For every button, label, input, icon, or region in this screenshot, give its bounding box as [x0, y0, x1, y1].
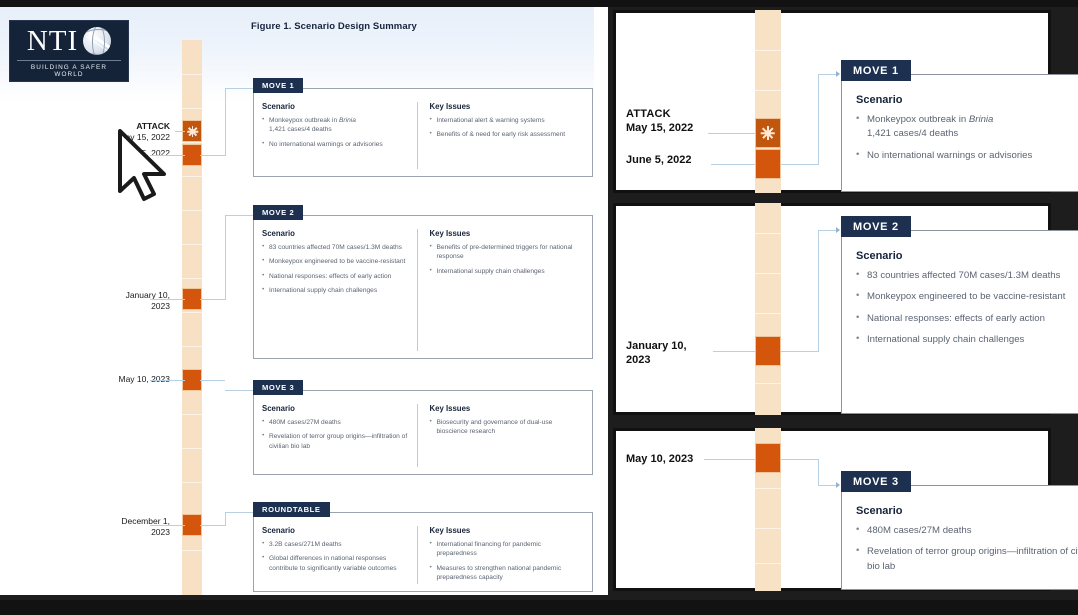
list-item: Monkeypox outbreak in Brinia1,421 cases/…: [262, 116, 409, 135]
timeline-label-june-2022: June 5, 2022: [60, 148, 170, 159]
zoom-connector-h2: [818, 74, 838, 75]
nti-wordmark: NTI: [27, 27, 78, 56]
slide-canvas: NTI BUILDING A SAFER WORLD Figure 1. Sce…: [0, 7, 608, 595]
list-item: Monkeypox engineered to be vaccine-resis…: [856, 290, 1078, 304]
key-issues-heading: Key Issues: [430, 229, 577, 238]
connector-move1-v: [225, 88, 226, 156]
zoom-label-june-2022: June 5, 2022: [626, 154, 691, 168]
scenario-heading: Scenario: [262, 404, 409, 413]
slide-right-margin: [594, 7, 608, 595]
list-item: No international warnings or advisories: [856, 149, 1078, 163]
list-item: International supply chain challenges: [430, 267, 577, 276]
move-card-1-issues: Key Issues International alert & warning…: [417, 102, 585, 169]
key-issues-heading: Key Issues: [430, 102, 577, 111]
letterbox-bottom: [0, 600, 1078, 615]
connector-move1-h1: [200, 155, 225, 156]
leader-june: [150, 155, 185, 156]
zoom-marker-move3[interactable]: [755, 443, 781, 473]
zoom-label-attack: ATTACK May 15, 2022: [626, 108, 693, 136]
list-item: International alert & warning systems: [430, 116, 577, 125]
connector-roundtable-h2: [225, 512, 253, 513]
zoom-card-1-tab: MOVE 1: [841, 60, 911, 81]
list-item: Revelation of terror group origins—infil…: [856, 545, 1078, 574]
list-item: National responses: effects of early act…: [856, 312, 1078, 326]
globe-icon: [83, 27, 111, 55]
list-item: National responses: effects of early act…: [262, 272, 409, 281]
timeline-label-december-2023: December 1, 2023: [60, 516, 170, 537]
move-card-1-scenario: Scenario Monkeypox outbreak in Brinia1,4…: [262, 102, 417, 169]
zoom-leader-attack: [708, 133, 755, 134]
list-item: Biosecurity and governance of dual-use b…: [430, 418, 577, 437]
zoom-leader-january: [713, 351, 755, 352]
leader-may: [150, 380, 185, 381]
zoom-timeline-track-2: [755, 203, 781, 415]
leader-attack: [175, 131, 185, 132]
move-card-1[interactable]: MOVE 1 Scenario Monkeypox outbreak in Br…: [253, 88, 593, 177]
virus-icon: [761, 126, 775, 140]
move-card-3[interactable]: MOVE 3 Scenario 480M cases/27M deaths Re…: [253, 390, 593, 475]
connector-move2-v: [225, 215, 226, 300]
zoom-marker-move2[interactable]: [755, 336, 781, 366]
connector-roundtable-h1: [200, 525, 225, 526]
zoom-connector2-v: [818, 230, 819, 352]
list-item: Benefits of & need for early risk assess…: [430, 130, 577, 139]
move-card-3-tab: MOVE 3: [253, 380, 303, 395]
list-item: International supply chain challenges: [262, 286, 409, 295]
timeline-marker-move2[interactable]: [182, 288, 202, 310]
list-item: 83 countries affected 70M cases/1.3M dea…: [262, 243, 409, 252]
key-issues-heading: Key Issues: [430, 404, 577, 413]
zoom-panel-2[interactable]: January 10, 2023 MOVE 2 Scenario 83 coun…: [613, 203, 1051, 415]
move-card-3-issues: Key Issues Biosecurity and governance of…: [417, 404, 585, 467]
list-item: International supply chain challenges: [856, 333, 1078, 347]
connector-move3-h1: [200, 380, 225, 381]
nti-logo: NTI BUILDING A SAFER WORLD: [9, 20, 129, 82]
list-item: Global differences in national responses…: [262, 554, 409, 573]
list-item: Measures to strengthen national pandemic…: [430, 564, 577, 583]
move-card-2-tab: MOVE 2: [253, 205, 303, 220]
zoom-connector-h1: [781, 164, 818, 165]
move-card-2-issues: Key Issues Benefits of pre-determined tr…: [417, 229, 585, 351]
arrow-icon: [836, 227, 840, 233]
list-item: Monkeypox outbreak in Brinia1,421 cases/…: [856, 113, 1078, 142]
figure-title: Figure 1. Scenario Design Summary: [251, 21, 417, 32]
zoom-card-2-tab: MOVE 2: [841, 216, 911, 237]
timeline-marker-roundtable[interactable]: [182, 514, 202, 536]
scenario-heading: Scenario: [262, 229, 409, 238]
timeline-marker-move3[interactable]: [182, 369, 202, 391]
scenario-heading: Scenario: [856, 505, 1078, 517]
timeline-label-attack: ATTACK May 15, 2022: [60, 121, 170, 142]
zoom-card-2[interactable]: MOVE 2 Scenario 83 countries affected 70…: [841, 230, 1078, 414]
zoom-marker-attack[interactable]: [755, 118, 781, 148]
list-item: No international warnings or advisories: [262, 140, 409, 149]
list-item: International financing for pandemic pre…: [430, 540, 577, 559]
zoom-panel-3[interactable]: May 10, 2023 MOVE 3 Scenario 480M cases/…: [613, 428, 1051, 591]
zoom-card-1[interactable]: MOVE 1 Scenario Monkeypox outbreak in Br…: [841, 74, 1078, 192]
leader-december: [150, 525, 185, 526]
list-item: 3.2B cases/271M deaths: [262, 540, 409, 549]
zoom-card-3[interactable]: MOVE 3 Scenario 480M cases/27M deaths Re…: [841, 485, 1078, 590]
zoom-connector-v: [818, 74, 819, 165]
leader-january: [150, 299, 185, 300]
zoom-connector3-h2: [818, 485, 838, 486]
timeline-label-january-2023: January 10, 2023: [60, 290, 170, 311]
scenario-heading: Scenario: [856, 250, 1078, 262]
move-card-roundtable[interactable]: ROUNDTABLE Scenario 3.2B cases/271M deat…: [253, 512, 593, 592]
move-card-roundtable-scenario: Scenario 3.2B cases/271M deaths Global d…: [262, 526, 417, 584]
zoom-connector2-h1: [781, 351, 818, 352]
zoom-connector2-h2: [818, 230, 838, 231]
scenario-heading: Scenario: [262, 102, 409, 111]
scenario-heading: Scenario: [856, 94, 1078, 106]
zoom-connector3-v: [818, 459, 819, 485]
move-card-roundtable-tab: ROUNDTABLE: [253, 502, 330, 517]
zoom-label-may-2023: May 10, 2023: [626, 453, 693, 467]
arrow-icon: [836, 482, 840, 488]
arrow-icon: [836, 71, 840, 77]
move-card-1-tab: MOVE 1: [253, 78, 303, 93]
list-item: Revelation of terror group origins—infil…: [262, 432, 409, 451]
zoom-connector3-h1: [781, 459, 818, 460]
connector-move2-h1: [200, 299, 225, 300]
connector-roundtable-v: [225, 512, 226, 526]
zoom-label-january-2023: January 10, 2023: [626, 340, 687, 368]
connector-move1-h2: [225, 88, 253, 89]
nti-tagline: BUILDING A SAFER WORLD: [17, 60, 121, 78]
virus-icon: [187, 126, 198, 137]
list-item: 480M cases/27M deaths: [262, 418, 409, 427]
zoom-card-3-tab: MOVE 3: [841, 471, 911, 492]
timeline-marker-attack[interactable]: [182, 120, 202, 142]
move-card-2[interactable]: MOVE 2 Scenario 83 countries affected 70…: [253, 215, 593, 359]
move-card-3-scenario: Scenario 480M cases/27M deaths Revelatio…: [262, 404, 417, 467]
list-item: 83 countries affected 70M cases/1.3M dea…: [856, 269, 1078, 283]
move-card-2-scenario: Scenario 83 countries affected 70M cases…: [262, 229, 417, 351]
connector-move3-h2: [225, 390, 253, 391]
scenario-heading: Scenario: [262, 526, 409, 535]
zoom-panel-1[interactable]: ATTACK May 15, 2022 June 5, 2022 MOVE 1 …: [613, 10, 1051, 193]
zoom-leader-june: [711, 164, 755, 165]
connector-move2-h2: [225, 215, 253, 216]
timeline-marker-move1[interactable]: [182, 144, 202, 166]
zoom-leader-may: [704, 459, 755, 460]
letterbox-top: [0, 0, 1078, 7]
screenshot-root: NTI BUILDING A SAFER WORLD Figure 1. Sce…: [0, 0, 1078, 615]
move-card-roundtable-issues: Key Issues International financing for p…: [417, 526, 585, 584]
list-item: Benefits of pre-determined triggers for …: [430, 243, 577, 262]
key-issues-heading: Key Issues: [430, 526, 577, 535]
zoom-marker-move1[interactable]: [755, 149, 781, 179]
list-item: 480M cases/27M deaths: [856, 524, 1078, 538]
list-item: Monkeypox engineered to be vaccine-resis…: [262, 257, 409, 266]
